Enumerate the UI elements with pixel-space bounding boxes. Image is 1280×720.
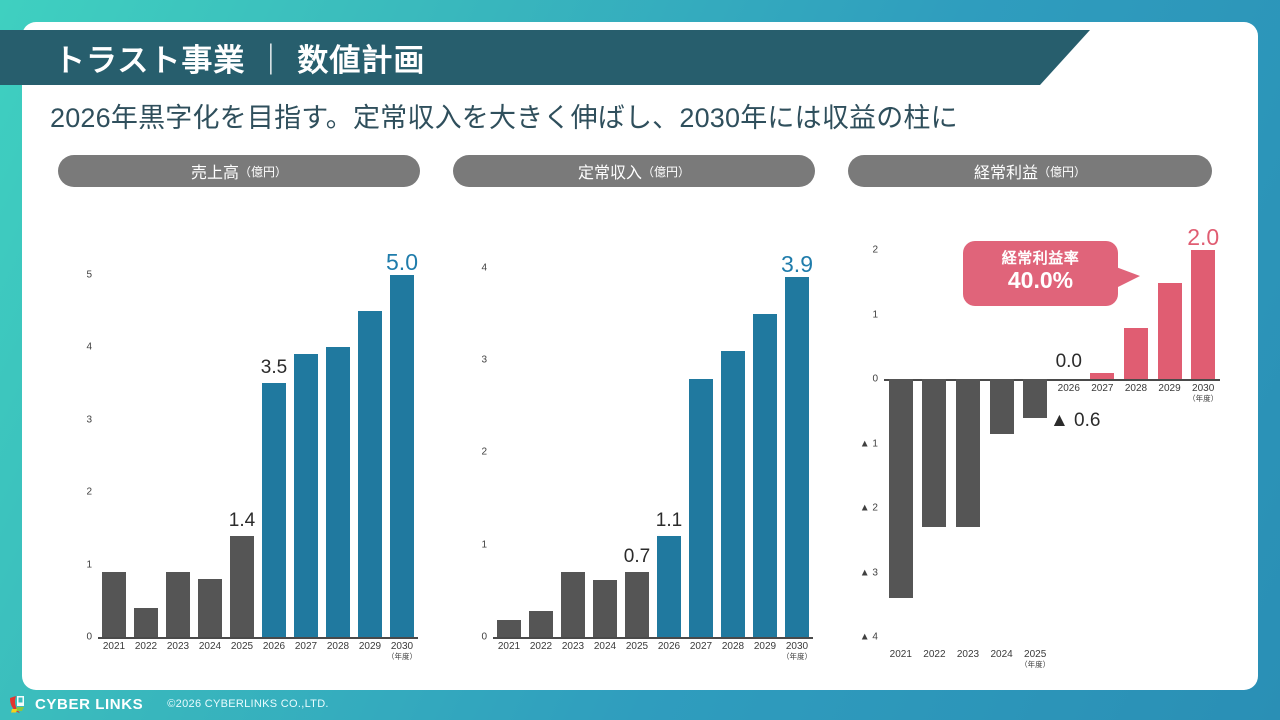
y-axis-tick: 0	[848, 374, 878, 385]
x-axis-tick: 2026	[653, 641, 685, 661]
chart-title-text: 売上高	[191, 159, 239, 183]
bar	[753, 314, 776, 637]
bar	[1158, 283, 1182, 380]
x-axis-tick: 2029	[749, 641, 781, 661]
chart-panel-recurring: 定常収入（億円） 0123420212022202320242025202620…	[453, 155, 815, 685]
header-banner: トラスト事業｜数値計画	[0, 30, 1090, 85]
chart-title-text: 定常収入	[578, 159, 642, 183]
callout-label: 経常利益率	[963, 247, 1118, 268]
x-axis-tick: 2030（年度）	[386, 641, 418, 661]
chart-plot-sales: 0123452021202220232024202520262027202820…	[58, 201, 420, 671]
bar	[102, 572, 125, 637]
x-axis-tick: 2029	[1153, 383, 1187, 403]
x-axis-line	[98, 637, 418, 639]
data-label: 0.0	[1056, 351, 1082, 373]
y-axis-tick: ▲ 4	[848, 632, 878, 643]
bar	[561, 572, 584, 637]
bar	[1124, 328, 1148, 380]
x-axis-tick: 2021	[884, 649, 918, 669]
chart-plot-operating-profit: 経常利益率 40.0% 210▲ 1▲ 2▲ 3▲ 42021202220232…	[848, 201, 1212, 671]
bar	[497, 620, 520, 637]
x-axis-tick: 2021	[98, 641, 130, 661]
data-label: 3.5	[261, 357, 287, 379]
bar	[166, 572, 189, 637]
y-axis-tick: ▲ 1	[848, 438, 878, 449]
chart-title-text: 経常利益	[974, 159, 1038, 183]
x-axis-tick: 2022	[130, 641, 162, 661]
callout-value: 40.0%	[963, 267, 1118, 294]
bar	[134, 608, 157, 637]
bar	[625, 572, 648, 637]
bar	[262, 383, 285, 637]
x-axis-labels: 2021202220232024202520262027202820292030…	[884, 383, 1220, 403]
y-axis-tick: 3	[58, 414, 92, 425]
chart-plot-recurring: 0123420212022202320242025202620272028202…	[453, 201, 815, 671]
page-title-separator: ｜	[245, 43, 297, 78]
x-axis-labels: 2021202220232024202520262027202820292030…	[98, 641, 418, 661]
bar	[294, 354, 317, 637]
bar	[1191, 250, 1215, 379]
data-label: 1.4	[229, 510, 255, 532]
x-axis-tick: 2029	[354, 641, 386, 661]
x-axis-tick: 2023	[951, 649, 985, 669]
x-axis-tick: 2028	[717, 641, 749, 661]
chart-title-unit: （億円）	[642, 163, 690, 180]
bar	[785, 277, 808, 637]
data-label: 1.1	[656, 510, 682, 532]
chart-panel-sales: 売上高（億円） 01234520212022202320242025202620…	[58, 155, 420, 685]
x-axis-tick: 2022	[918, 649, 952, 669]
copyright-text: ©2026 CYBERLINKS CO.,LTD.	[167, 698, 329, 710]
bar	[198, 579, 221, 637]
x-axis-tick: 2024	[985, 649, 1019, 669]
data-label: 5.0	[386, 249, 418, 276]
x-axis-tick: 2027	[290, 641, 322, 661]
footer: CYBER LINKS ©2026 CYBERLINKS CO.,LTD.	[0, 688, 1280, 720]
subtitle: 2026年黒字化を目指す。定常収入を大きく伸ばし、2030年には収益の柱に	[50, 96, 958, 135]
x-axis-note: （年度）	[386, 653, 418, 662]
x-axis-note: （年度）	[1018, 661, 1052, 670]
x-axis-note: （年度）	[1186, 395, 1220, 404]
x-axis-tick: 2026	[258, 641, 290, 661]
x-axis-tick: 2023	[557, 641, 589, 661]
y-axis-tick: 2	[58, 487, 92, 498]
y-axis-tick: 0	[453, 632, 487, 643]
x-axis-tick: 2025	[226, 641, 258, 661]
bar	[593, 580, 616, 637]
profit-rate-callout: 経常利益率 40.0%	[963, 241, 1118, 306]
x-axis-tick: 2026	[1052, 383, 1086, 403]
data-label: 2.0	[1187, 224, 1219, 251]
chart-title-operating-profit: 経常利益（億円）	[848, 155, 1212, 187]
y-axis-tick: 1	[848, 309, 878, 320]
y-axis-tick: 1	[453, 539, 487, 550]
y-axis-tick: 4	[58, 342, 92, 353]
y-axis-tick: 2	[453, 447, 487, 458]
data-label: 0.7	[624, 546, 650, 568]
page-title-sub: 数値計画	[297, 43, 425, 78]
y-axis-tick: 5	[58, 269, 92, 280]
x-axis-tick: 2021	[493, 641, 525, 661]
y-axis-tick: ▲ 3	[848, 567, 878, 578]
x-axis-tick: 2030（年度）	[1186, 383, 1220, 403]
bar	[358, 311, 381, 637]
cyberlinks-logo-icon	[8, 694, 30, 714]
brand-name: CYBER LINKS	[35, 696, 143, 713]
x-axis-line	[493, 637, 813, 639]
x-axis-tick: 2025（年度）	[1018, 649, 1052, 669]
chart-title-unit: （億円）	[1038, 163, 1086, 180]
y-axis-tick: 4	[453, 262, 487, 273]
x-axis-tick: 2028	[1119, 383, 1153, 403]
bar	[689, 379, 712, 637]
y-axis-tick: 0	[58, 632, 92, 643]
chart-title-recurring: 定常収入（億円）	[453, 155, 815, 187]
bar	[529, 611, 552, 637]
chart-title-sales: 売上高（億円）	[58, 155, 420, 187]
y-axis-tick: 1	[58, 559, 92, 570]
bar	[1090, 373, 1114, 379]
x-axis-tick: 2022	[525, 641, 557, 661]
x-axis-tick: 2030（年度）	[781, 641, 813, 661]
page-title: トラスト事業｜数値計画	[54, 35, 425, 80]
data-label: ▲ 0.6	[1050, 410, 1101, 432]
y-axis-tick: 2	[848, 245, 878, 256]
x-axis-tick: 2025	[621, 641, 653, 661]
y-axis-tick: 3	[453, 355, 487, 366]
bar	[889, 379, 913, 598]
bar	[721, 351, 744, 637]
x-axis-labels: 2021202220232024202520262027202820292030…	[493, 641, 813, 661]
x-axis-labels-actual: 20212022202320242025（年度）2026202720282029…	[884, 649, 1220, 669]
x-axis-tick: 2028	[322, 641, 354, 661]
chart-title-unit: （億円）	[239, 163, 287, 180]
x-axis-tick: 2027	[685, 641, 717, 661]
x-axis-tick: 2023	[162, 641, 194, 661]
y-axis-tick: ▲ 2	[848, 503, 878, 514]
x-axis-note: （年度）	[781, 653, 813, 662]
x-axis-tick: 2027	[1086, 383, 1120, 403]
chart-panel-operating-profit: 経常利益（億円） 経常利益率 40.0% 210▲ 1▲ 2▲ 3▲ 42021…	[848, 155, 1212, 685]
bar	[390, 275, 413, 638]
data-label: 3.9	[781, 251, 813, 278]
page-title-main: トラスト事業	[54, 43, 245, 78]
x-axis-tick: 2024	[194, 641, 226, 661]
x-axis-tick: 2024	[589, 641, 621, 661]
bar	[657, 536, 680, 638]
bar	[230, 536, 253, 638]
bar	[326, 347, 349, 637]
